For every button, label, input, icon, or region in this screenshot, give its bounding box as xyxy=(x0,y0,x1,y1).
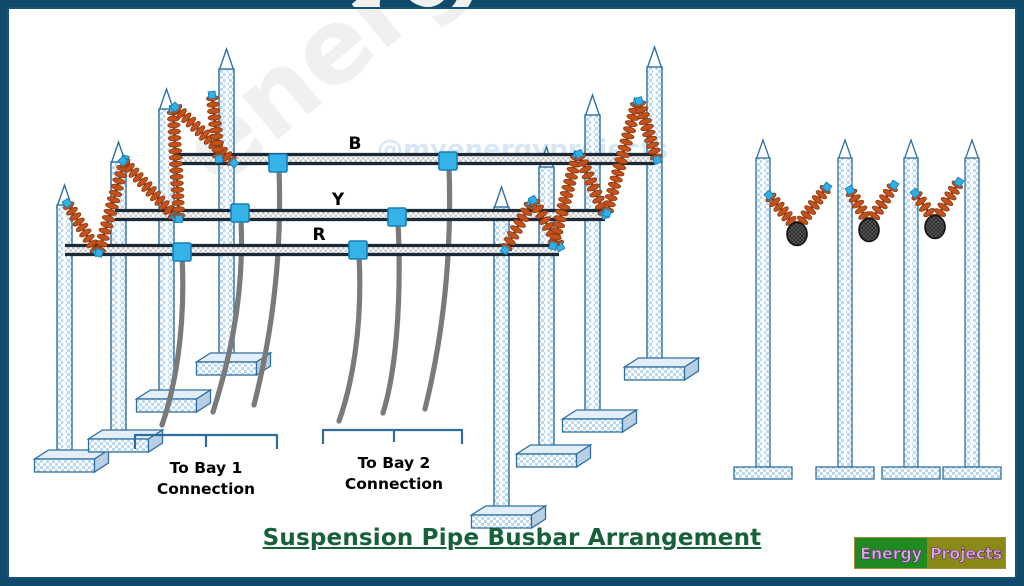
clamp-y1[interactable] xyxy=(231,204,249,222)
ins-6-fitting-b xyxy=(215,155,223,163)
ins-12-fitting-b xyxy=(653,156,662,165)
column-5-tip xyxy=(494,187,509,209)
diagram-canvas: BYR To Bay 1ConnectionTo Bay 2Connection xyxy=(7,7,1017,579)
ins-6-fitting-a xyxy=(208,91,216,99)
busbar-R[interactable] xyxy=(65,246,559,255)
ins-4-disc xyxy=(171,193,184,199)
ins-11-fitting-b xyxy=(603,209,612,218)
r-column-1[interactable] xyxy=(734,140,792,479)
ins-12-fitting-a xyxy=(635,97,644,106)
ins-4-disc xyxy=(172,206,184,212)
logo-word-projects: Projects xyxy=(930,544,1002,563)
r-column-1-tip xyxy=(756,140,770,160)
column-1-base-front xyxy=(35,459,95,472)
v-string-3-conductor-disc xyxy=(925,216,945,239)
column-1[interactable] xyxy=(35,185,109,472)
logo-left-half: Energy xyxy=(855,538,927,568)
bay-label-1-line1: To Bay 1 xyxy=(170,459,243,477)
ins-4-disc xyxy=(170,174,183,180)
clamp-b2[interactable] xyxy=(439,152,457,170)
ins-4-disc xyxy=(171,180,184,186)
ins-6-disc xyxy=(207,101,220,107)
column-2-base-front xyxy=(89,439,149,452)
r-column-2-base xyxy=(816,467,874,479)
ins-6-disc xyxy=(207,108,220,115)
v-string-1-conductor-disc xyxy=(787,223,807,246)
ins-2-fitting-b xyxy=(95,249,104,258)
ins-9-fitting-b xyxy=(549,242,558,251)
ins-4-fitting-b xyxy=(175,215,182,222)
clamp-y2[interactable] xyxy=(388,208,406,226)
dropper-4 xyxy=(339,255,360,421)
ins-4-disc xyxy=(169,148,182,154)
column-8-tip xyxy=(647,47,662,69)
r-column-3-base xyxy=(882,467,940,479)
diagram-frame: energy Projects @myenergyprojects xyxy=(0,0,1024,586)
logo-word-energy: Energy xyxy=(860,544,922,563)
column-8[interactable] xyxy=(625,47,699,380)
ins-4-disc xyxy=(172,200,184,206)
ins-4-disc xyxy=(168,142,181,148)
r-column-4-base xyxy=(943,467,1001,479)
r-column-1-base xyxy=(734,467,792,479)
yellow-phase-label: Y xyxy=(331,190,345,210)
blue-phase-label: B xyxy=(349,134,362,154)
logo-right-half: Projects xyxy=(927,538,1005,568)
r-column-4-tip xyxy=(965,140,979,160)
column-7-tip xyxy=(585,95,600,117)
bay-label-2-line1: To Bay 2 xyxy=(358,454,431,472)
r-column-3-tip xyxy=(904,140,918,160)
v-string-2-conductor-disc xyxy=(859,219,879,242)
clamp-r1[interactable] xyxy=(173,243,191,261)
ins-4-disc xyxy=(168,135,181,141)
column-4-tip xyxy=(219,49,234,71)
ins-4-disc xyxy=(168,122,180,128)
ins-4-disc xyxy=(171,187,184,193)
column-8-base-front xyxy=(625,367,685,380)
dropper-6 xyxy=(425,167,450,409)
column-7-base-front xyxy=(563,419,623,432)
brand-logo[interactable]: Energy Projects xyxy=(854,537,1006,569)
bay-bracket-2 xyxy=(323,430,462,444)
ins-4-disc xyxy=(169,155,182,161)
clamp-b1[interactable] xyxy=(269,154,287,172)
bay-label-1-line2: Connection xyxy=(157,480,255,498)
bay-label-2-line2: Connection xyxy=(345,475,443,493)
r-column-2-tip xyxy=(838,140,852,160)
red-phase-label: R xyxy=(312,225,325,245)
ins-4-disc xyxy=(169,161,182,167)
clamp-r2[interactable] xyxy=(349,241,367,259)
ins-4-disc xyxy=(170,168,183,174)
column-6-base-front xyxy=(517,454,577,467)
ins-4-disc xyxy=(168,129,181,135)
